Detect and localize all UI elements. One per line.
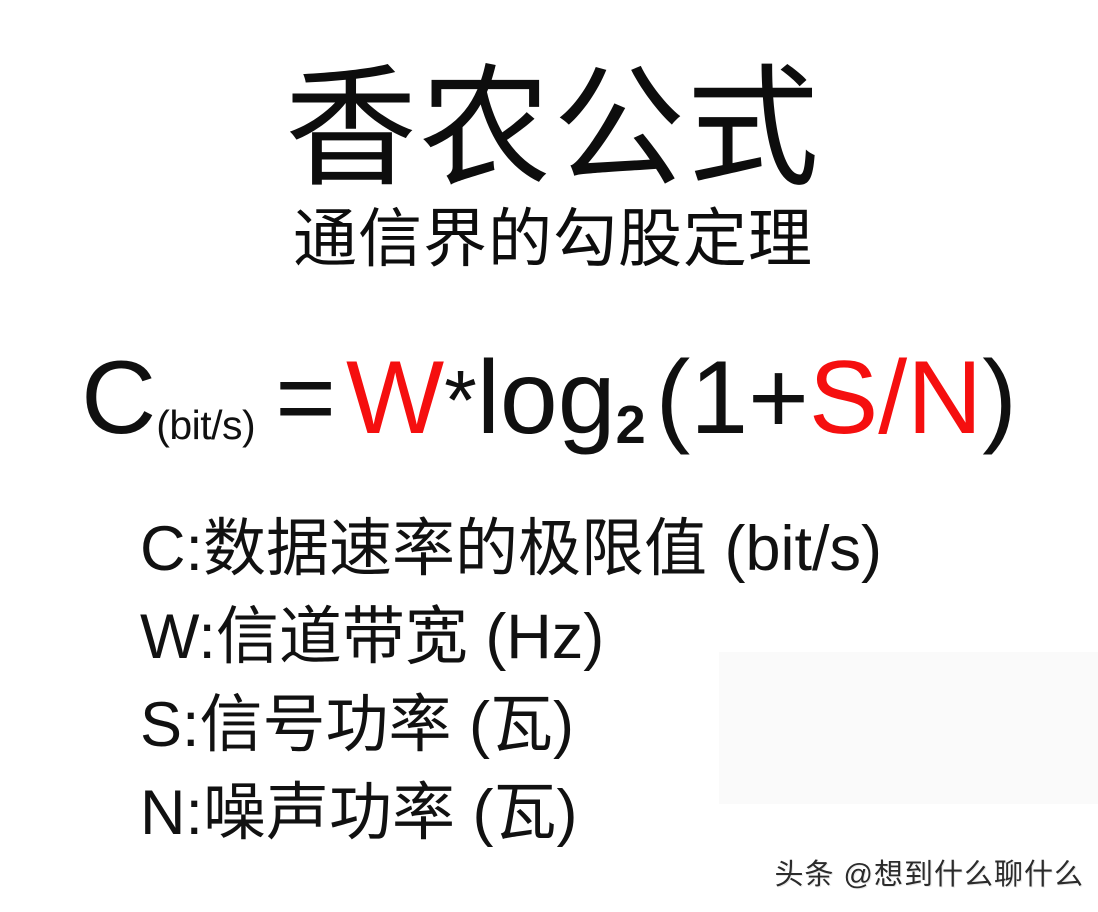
formula-bandwidth-symbol: W (346, 346, 444, 450)
legend-row-signal-power: S:信号功率 (瓦) (140, 681, 1040, 769)
formula-close-paren: ) (982, 346, 1017, 450)
legend-row-bandwidth: W:信道带宽 (Hz) (140, 593, 1040, 681)
formula-one: 1 (690, 346, 748, 450)
shannon-formula: C (bit/s) = W * log 2 ( 1 + S/N ) (0, 346, 1098, 476)
formula-log-base: 2 (616, 398, 646, 452)
legend-row-noise-power: N:噪声功率 (瓦) (140, 769, 1040, 857)
formula-capacity-unit: (bit/s) (156, 405, 255, 446)
formula-multiply-sign: * (444, 358, 477, 442)
page-title: 香农公式 (8, 58, 1098, 201)
page-subtitle: 通信界的勾股定理 (8, 203, 1098, 277)
formula-plus-sign: + (748, 346, 809, 450)
poster-canvas: 香农公式 通信界的勾股定理 C (bit/s) = W * log 2 ( 1 … (0, 0, 1098, 912)
symbol-legend: C:数据速率的极限值 (bit/s) W:信道带宽 (Hz) S:信号功率 (瓦… (140, 505, 1040, 857)
formula-capacity-symbol: C (81, 346, 156, 450)
poster-header: 香农公式 通信界的勾股定理 (0, 58, 1098, 276)
formula-open-paren: ( (656, 346, 691, 450)
legend-row-capacity: C:数据速率的极限值 (bit/s) (140, 505, 1040, 593)
formula-equals-sign: = (275, 346, 336, 450)
watermark: 头条 @想到什么聊什么 (775, 861, 1085, 890)
formula-log: log (477, 346, 616, 450)
formula-snr: S/N (809, 346, 982, 450)
